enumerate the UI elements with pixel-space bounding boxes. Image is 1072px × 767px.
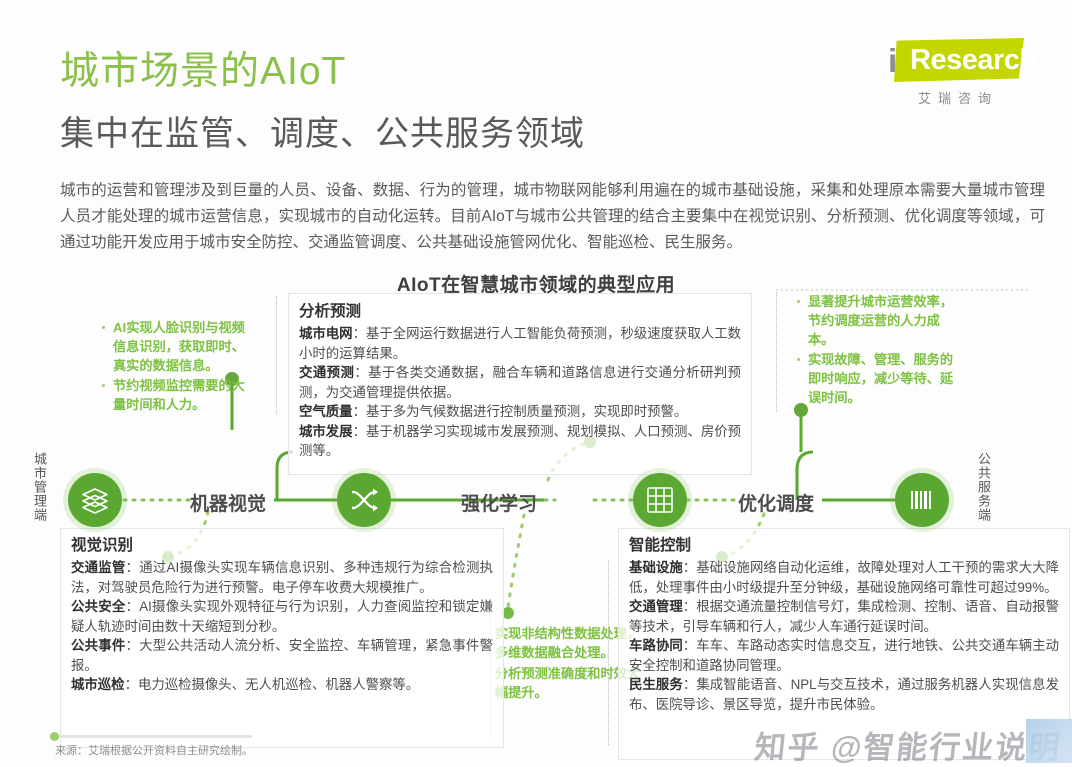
note-vision-benefits: AI实现人脸识别与视频信息识别，获取即时、真实的数据信息。 节约视频监控需要的大… <box>100 318 248 415</box>
panel-item-term: 车路协同 <box>629 638 683 653</box>
panel-item: 公共事件：大型公共活动人流分析、安全监控、车辆管理，紧急事件警报。 <box>71 636 493 675</box>
panel-item-colon: ： <box>353 424 366 439</box>
side-label-city-management: 城市管理端 <box>32 452 47 522</box>
panel-item-term: 民生服务 <box>629 677 683 692</box>
panel-analysis-prediction: 分析预测 城市电网：基于全网运行数据进行人工智能负荷预测，秒级速度获取人工数小时… <box>288 293 752 475</box>
logo-wordmark: Research <box>910 46 1037 75</box>
stage-label-optimized-dispatch: 优化调度 <box>738 489 814 516</box>
panel-item-term: 交通管理 <box>629 599 683 614</box>
side-label-public-service: 公共服务端 <box>976 452 991 522</box>
watermark: 知乎 @智能行业说明 <box>753 722 1065 767</box>
layers-icon <box>80 485 110 515</box>
panel-title: 智能控制 <box>629 536 1059 556</box>
panel-title: 分析预测 <box>299 302 741 322</box>
node-layers[interactable] <box>68 473 122 527</box>
iresearch-logo: i Research 艾瑞咨询 <box>880 36 1030 110</box>
barcode-icon <box>907 485 937 515</box>
panel-item-term: 交通预测 <box>299 365 354 380</box>
panel-item: 公共安全：AI摄像头实现外观特征与行为识别，人力查阅监控和锁定嫌疑人轨迹时间由数… <box>71 597 493 636</box>
panel-item-colon: ： <box>126 560 140 575</box>
panel-item-colon: ： <box>353 404 366 419</box>
panel-item-term: 公共事件 <box>71 638 125 653</box>
panel-title: 视觉识别 <box>71 536 493 556</box>
note-item: 节约视频监控需要的大量时间和人力。 <box>100 376 248 414</box>
note-item: 实现故障、管理、服务的即时响应，减少等待、延误时间。 <box>795 350 965 407</box>
intro-paragraph: 城市的运营和管理涉及到巨量的人员、设备、数据、行为的管理，城市物联网能够利用遍在… <box>60 178 1045 256</box>
divider-control-panel <box>608 560 609 745</box>
source-note: 来源：艾瑞根据公开资料自主研究绘制。 <box>55 742 253 758</box>
node-shuffle[interactable] <box>337 473 391 527</box>
panel-item: 交通监管：通过AI摄像头实现车辆信息识别、多种违规行为综合检测执法，对驾驶员危险… <box>71 558 493 597</box>
panel-item: 民生服务：集成智能语音、NPL与交互技术，通过服务机器人实现信息发布、医院导诊、… <box>629 675 1059 714</box>
panel-item-colon: ： <box>683 599 696 614</box>
panel-item-text: 基于机器学习实现城市发展预测、规划模拟、人口预测、房价预测等。 <box>299 424 741 459</box>
grid-icon <box>645 485 675 515</box>
panel-item-colon: ： <box>354 365 368 380</box>
panel-item-text: 基于全网运行数据进行人工智能负荷预测，秒级速度获取人工数小时的运算结果。 <box>299 326 741 361</box>
shuffle-icon <box>349 485 379 515</box>
panel-item-term: 基础设施 <box>629 560 683 575</box>
panel-item-colon: ： <box>125 677 138 692</box>
panel-item-text: 电力巡检摄像头、无人机巡检、机器人警察等。 <box>138 677 419 692</box>
panel-item: 空气质量：基于多为气候数据进行控制质量预测，实现即时预警。 <box>299 402 741 422</box>
watermark-badge <box>1026 719 1072 763</box>
panel-item: 交通预测：基于各类交通数据，融合车辆和道路信息进行交通分析研判预测，为交通管理提… <box>299 363 741 402</box>
panel-item: 城市巡检：电力巡检摄像头、无人机巡检、机器人警察等。 <box>71 675 493 695</box>
panel-item-colon: ： <box>125 638 139 653</box>
node-grid[interactable] <box>633 473 687 527</box>
infographic-root: 城市场景的AIoT 集中在监管、调度、公共服务领域 城市的运营和管理涉及到巨量的… <box>0 0 1072 763</box>
node-barcode[interactable] <box>895 473 949 527</box>
panel-item-colon: ： <box>126 599 140 614</box>
page-subtitle: 集中在监管、调度、公共服务领域 <box>60 117 585 151</box>
note-item: AI实现人脸识别与视频信息识别，获取即时、真实的数据信息。 <box>100 318 248 375</box>
note-item: 显著提升城市运营效率，节约调度运营的人力成本。 <box>795 292 965 349</box>
source-rule <box>52 735 252 738</box>
divider-left-note <box>276 296 277 414</box>
page-title-green: 城市场景的AIoT <box>60 52 346 91</box>
panel-item-text: 基于多为气候数据进行控制质量预测，实现即时预警。 <box>366 404 687 419</box>
panel-item-term: 城市发展 <box>299 424 353 439</box>
panel-item-colon: ： <box>683 638 696 653</box>
panel-item: 基础设施：基础设施网络自动化运维，故障处理对人工干预的需求大大降低，处理事件由小… <box>629 558 1059 597</box>
panel-item: 交通管理：根据交通流量控制信号灯，集成检测、控制、语音、自动报警等技术，引导车辆… <box>629 597 1059 636</box>
panel-item-colon: ： <box>353 326 366 341</box>
panel-item-term: 交通监管 <box>71 560 126 575</box>
panel-item: 车路协同：车车、车路动态实时信息交互，进行地铁、公共交通车辆主动安全控制和道路协… <box>629 636 1059 675</box>
note-dispatch-benefits: 显著提升城市运营效率，节约调度运营的人力成本。 实现故障、管理、服务的即时响应，… <box>795 292 965 408</box>
stage-label-machine-vision: 机器视觉 <box>190 489 266 516</box>
panel-item: 城市电网：基于全网运行数据进行人工智能负荷预测，秒级速度获取人工数小时的运算结果… <box>299 324 741 363</box>
stage-label-reinforcement-learning: 强化学习 <box>461 489 537 516</box>
panel-item: 城市发展：基于机器学习实现城市发展预测、规划模拟、人口预测、房价预测等。 <box>299 422 741 461</box>
panel-item-term: 公共安全 <box>71 599 126 614</box>
logo-chinese-name: 艾瑞咨询 <box>896 88 1020 107</box>
divider-right-note <box>776 292 777 412</box>
panel-item-term: 空气质量 <box>299 404 353 419</box>
panel-item-term: 城市巡检 <box>71 677 125 692</box>
source-dot <box>50 732 59 741</box>
logo-letter-i: i <box>888 44 897 77</box>
panel-item-colon: ： <box>683 677 696 692</box>
panel-item-term: 城市电网 <box>299 326 353 341</box>
panel-visual-recognition: 视觉识别 交通监管：通过AI摄像头实现车辆信息识别、多种违规行为综合检测执法，对… <box>60 528 504 748</box>
panel-item-colon: ： <box>683 560 696 575</box>
